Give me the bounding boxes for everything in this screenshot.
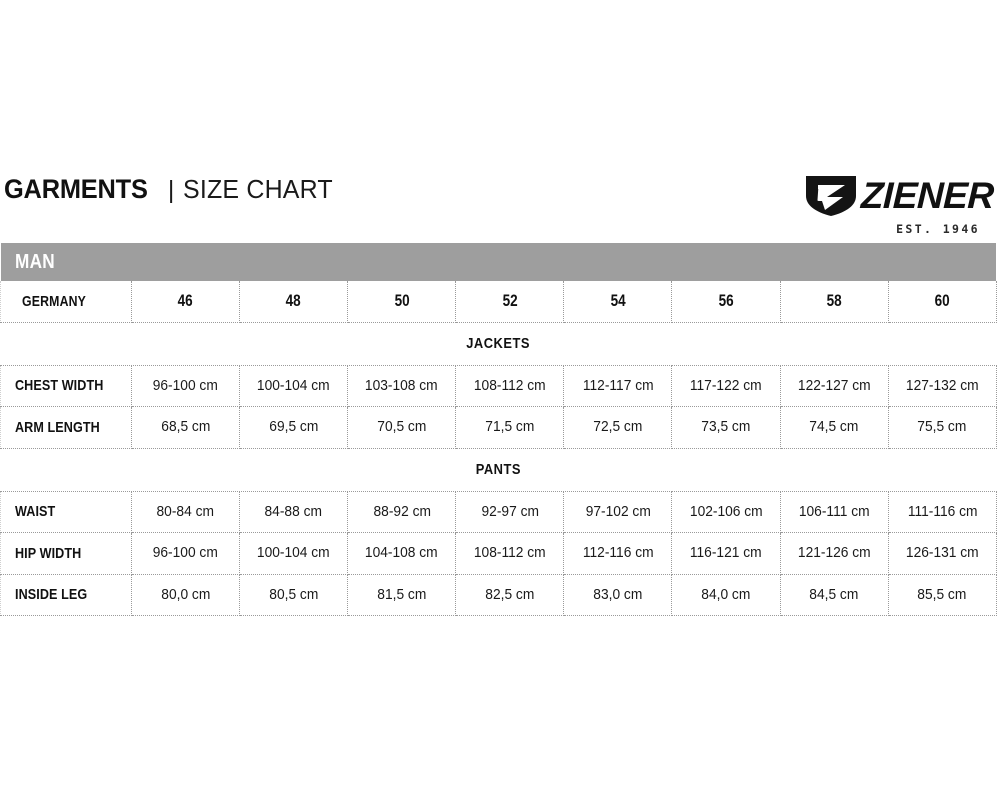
table-row: INSIDE LEG 80,0 cm 80,5 cm 81,5 cm 82,5 …	[1, 574, 997, 616]
page-header: GARMENTS | SIZE CHART ZIENER EST. 1946	[0, 168, 1000, 240]
row-value: 127-132 cm	[888, 365, 996, 407]
row-value: 70,5 cm	[348, 407, 456, 449]
row-value: 108-112 cm	[456, 365, 564, 407]
group-band-label: MAN	[15, 251, 55, 274]
row-value: 81,5 cm	[348, 574, 456, 616]
row-label: INSIDE LEG	[1, 574, 132, 616]
row-value: 102-106 cm	[672, 491, 780, 533]
row-value: 121-126 cm	[780, 533, 888, 575]
section-header-row: PANTS	[1, 448, 997, 491]
size-header-label-text: GERMANY	[22, 293, 86, 310]
row-value: 75,5 cm	[888, 407, 996, 449]
size-chart-page: GARMENTS | SIZE CHART ZIENER EST. 1946	[0, 0, 1000, 800]
section-header-label: JACKETS	[467, 335, 531, 352]
table-row: ARM LENGTH 68,5 cm 69,5 cm 70,5 cm 71,5 …	[1, 407, 997, 449]
size-header-cell: 60	[888, 281, 996, 322]
row-value: 100-104 cm	[240, 533, 348, 575]
row-value: 84,0 cm	[672, 574, 780, 616]
logo-row: ZIENER	[803, 172, 994, 218]
section-header-cell: PANTS	[1, 448, 997, 491]
row-value: 73,5 cm	[672, 407, 780, 449]
row-value: 96-100 cm	[132, 365, 240, 407]
size-header-row: GERMANY 46 48 50 52 54 56 58 60	[1, 281, 997, 322]
size-header-cell: 58	[780, 281, 888, 322]
group-band-row: MAN	[1, 243, 997, 281]
row-value: 80,5 cm	[240, 574, 348, 616]
row-value: 83,0 cm	[564, 574, 672, 616]
section-header-row: JACKETS	[1, 322, 997, 365]
logo-tagline: EST. 1946	[896, 222, 980, 236]
ziener-shield-z-icon	[803, 172, 859, 218]
table-row: HIP WIDTH 96-100 cm 100-104 cm 104-108 c…	[1, 533, 997, 575]
group-band-cell: MAN	[1, 243, 997, 281]
row-label: WAIST	[1, 491, 132, 533]
row-value: 112-116 cm	[564, 533, 672, 575]
table-row: WAIST 80-84 cm 84-88 cm 88-92 cm 92-97 c…	[1, 491, 997, 533]
row-value: 69,5 cm	[240, 407, 348, 449]
row-value: 72,5 cm	[564, 407, 672, 449]
size-header-cell: 56	[672, 281, 780, 322]
size-header-cell: 50	[348, 281, 456, 322]
row-value: 71,5 cm	[456, 407, 564, 449]
row-value: 88-92 cm	[348, 491, 456, 533]
row-value: 111-116 cm	[888, 491, 996, 533]
row-value: 92-97 cm	[456, 491, 564, 533]
row-value: 106-111 cm	[780, 491, 888, 533]
row-value: 112-117 cm	[564, 365, 672, 407]
size-header-cell: 48	[240, 281, 348, 322]
row-value: 97-102 cm	[564, 491, 672, 533]
row-value: 103-108 cm	[348, 365, 456, 407]
row-label: ARM LENGTH	[1, 407, 132, 449]
section-header-cell: JACKETS	[1, 322, 997, 365]
row-value: 126-131 cm	[888, 533, 996, 575]
row-value: 117-122 cm	[672, 365, 780, 407]
size-header-cell: 52	[456, 281, 564, 322]
table-row: CHEST WIDTH 96-100 cm 100-104 cm 103-108…	[1, 365, 997, 407]
page-title: GARMENTS | SIZE CHART	[0, 168, 340, 205]
row-value: 82,5 cm	[456, 574, 564, 616]
row-label: HIP WIDTH	[1, 533, 132, 575]
row-value: 108-112 cm	[456, 533, 564, 575]
row-value: 80-84 cm	[132, 491, 240, 533]
size-header-cell: 46	[132, 281, 240, 322]
brand-logo: ZIENER EST. 1946	[803, 168, 1000, 236]
row-value: 96-100 cm	[132, 533, 240, 575]
row-value: 104-108 cm	[348, 533, 456, 575]
row-value: 122-127 cm	[780, 365, 888, 407]
row-value: 100-104 cm	[240, 365, 348, 407]
page-title-sub: SIZE CHART	[183, 174, 333, 205]
row-value: 84,5 cm	[780, 574, 888, 616]
row-value: 74,5 cm	[780, 407, 888, 449]
table-body: MAN GERMANY 46 48 50 52 54 56 58 60 JACK…	[1, 243, 997, 616]
size-chart-table: MAN GERMANY 46 48 50 52 54 56 58 60 JACK…	[0, 243, 997, 616]
size-header-cell: 54	[564, 281, 672, 322]
size-header-label: GERMANY	[1, 281, 132, 322]
logo-wordmark: ZIENER	[861, 177, 995, 214]
row-value: 116-121 cm	[672, 533, 780, 575]
page-title-separator: |	[168, 176, 175, 205]
page-title-main: GARMENTS	[4, 174, 148, 205]
row-value: 84-88 cm	[240, 491, 348, 533]
section-header-label: PANTS	[476, 461, 521, 478]
row-value: 80,0 cm	[132, 574, 240, 616]
row-value: 68,5 cm	[132, 407, 240, 449]
row-label: CHEST WIDTH	[1, 365, 132, 407]
row-value: 85,5 cm	[888, 574, 996, 616]
